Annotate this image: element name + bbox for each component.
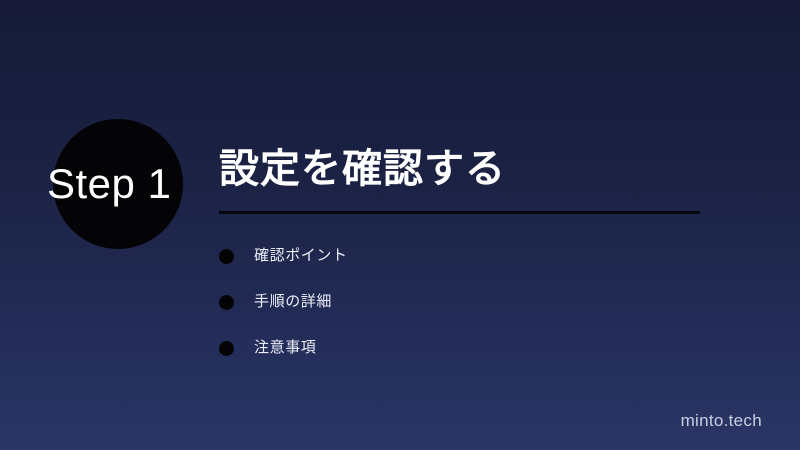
slide-content: 設定を確認する 確認ポイント 手順の詳細 注意事項	[219, 143, 739, 371]
bullet-item-label: 確認ポイント	[254, 246, 348, 266]
bullet-item-label: 手順の詳細	[254, 292, 332, 312]
title-divider	[219, 211, 700, 214]
bullet-dot-icon	[219, 295, 234, 310]
slide-title: 設定を確認する	[219, 143, 739, 195]
bullet-list: 確認ポイント 手順の詳細 注意事項	[219, 233, 739, 371]
list-item: 手順の詳細	[219, 279, 739, 325]
bullet-dot-icon	[219, 249, 234, 264]
footer-brand: minto.tech	[681, 410, 762, 432]
step-badge: Step 1	[53, 119, 183, 249]
bullet-dot-icon	[219, 341, 234, 356]
slide-canvas: Step 1 設定を確認する 確認ポイント 手順の詳細 注意事項 minto.t…	[0, 0, 800, 450]
bullet-item-label: 注意事項	[254, 338, 316, 358]
list-item: 確認ポイント	[219, 233, 739, 279]
list-item: 注意事項	[219, 325, 739, 371]
